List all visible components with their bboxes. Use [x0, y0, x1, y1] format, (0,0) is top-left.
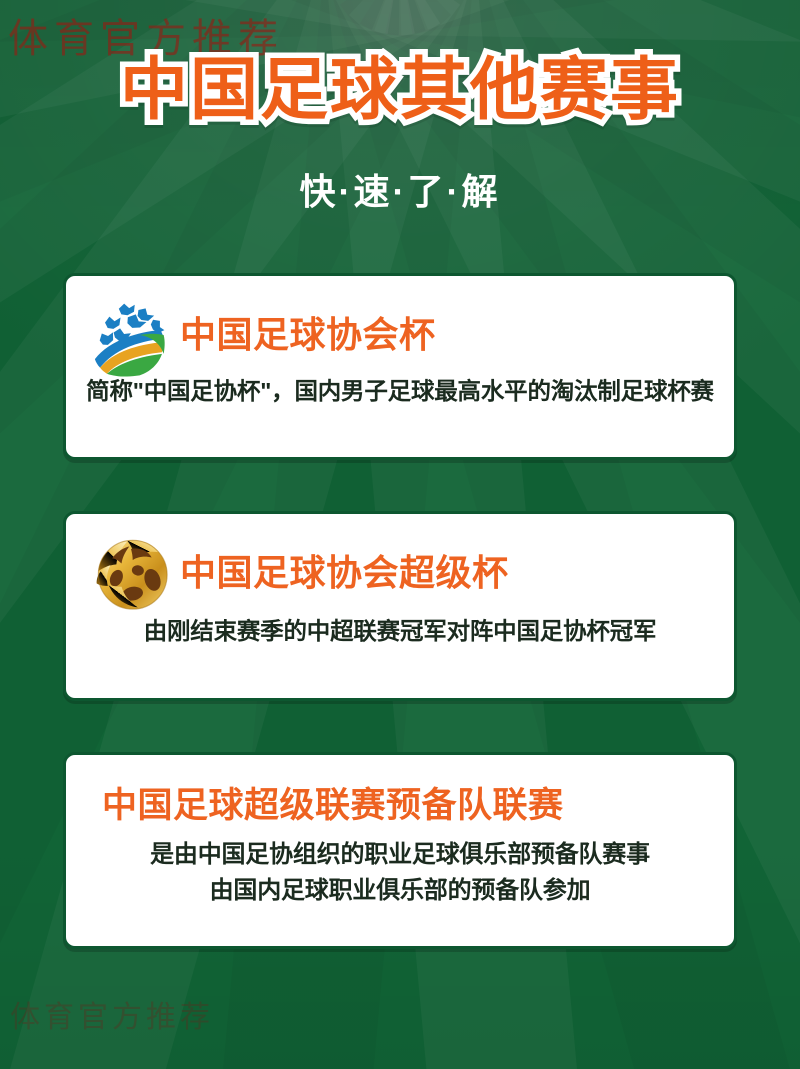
card-description: 由刚结束赛季的中超联赛冠军对阵中国足协杯冠军 — [66, 614, 734, 649]
card-header: 中国足球超级联赛预备队联赛 — [66, 755, 734, 831]
card-description: 简称"中国足协杯"，国内男子足球最高水平的淘汰制足球杯赛 — [66, 374, 734, 409]
cfa-cup-logo — [88, 292, 174, 378]
card-header: 中国足球协会杯 — [66, 276, 734, 372]
competition-card[interactable]: 中国足球协会超级杯 由刚结束赛季的中超联赛冠军对阵中国足协杯冠军 — [63, 511, 737, 701]
poster-root: 体育官方推荐 中国足球其他赛事 快·速·了·解 — [0, 0, 800, 1069]
competition-card[interactable]: 中国足球超级联赛预备队联赛 是由中国足协组织的职业足球俱乐部预备队赛事 由国内足… — [63, 752, 737, 949]
card-description: 是由中国足协组织的职业足球俱乐部预备队赛事 由国内足球职业俱乐部的预备队参加 — [66, 837, 734, 908]
competition-card[interactable]: 中国足球协会杯 简称"中国足协杯"，国内男子足球最高水平的淘汰制足球杯赛 — [63, 273, 737, 460]
card-description-line: 由国内足球职业俱乐部的预备队参加 — [84, 873, 716, 909]
page-subtitle: 快·速·了·解 — [300, 174, 501, 210]
card-title: 中国足球协会超级杯 — [180, 555, 509, 591]
subtitle-container: 快·速·了·解 — [0, 174, 800, 210]
title-container: 中国足球其他赛事 — [0, 56, 800, 124]
poster-content: 体育官方推荐 中国足球其他赛事 快·速·了·解 — [0, 0, 800, 1069]
card-header: 中国足球协会超级杯 — [66, 514, 734, 610]
card-title: 中国足球超级联赛预备队联赛 — [88, 788, 564, 823]
card-description-line: 是由中国足协组织的职业足球俱乐部预备队赛事 — [84, 837, 716, 873]
page-title: 中国足球其他赛事 — [120, 56, 680, 124]
cfa-super-cup-trophy-logo — [88, 530, 174, 616]
watermark-bottom: 体育官方推荐 — [10, 992, 214, 1036]
card-title: 中国足球协会杯 — [180, 317, 436, 353]
